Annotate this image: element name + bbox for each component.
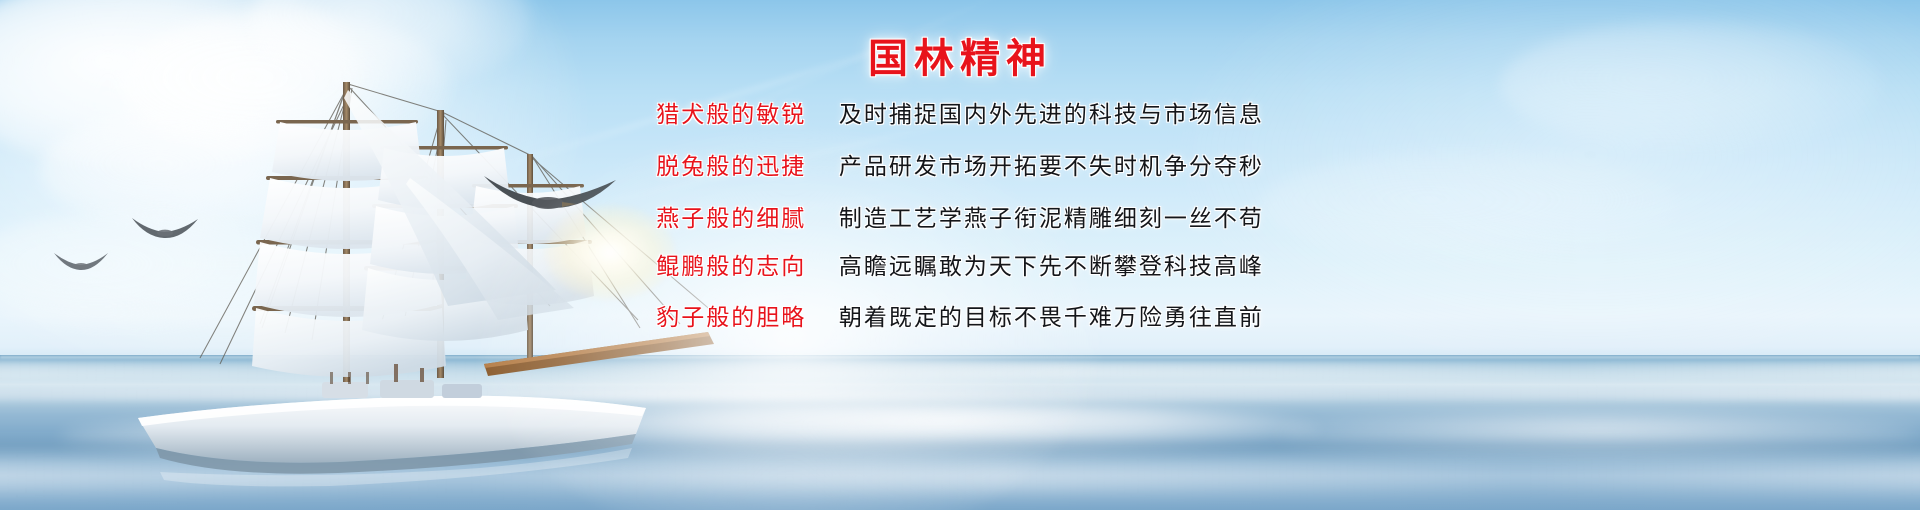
ocean-waves (0, 355, 1920, 510)
page-title: 国林精神 (0, 26, 1920, 84)
slogan-row: 豹子般的胆略 朝着既定的目标不畏千难万险勇往直前 (0, 307, 1920, 330)
slogan-keyword: 燕子般的细腻 (656, 206, 806, 232)
wave-crest (1280, 413, 1920, 457)
slogan-body: 制造工艺学燕子衔泥精雕细刻一丝不苟 (839, 206, 1264, 232)
slogan-keyword: 豹子般的胆略 (656, 305, 806, 331)
slogan-keyword: 猎犬般的敏锐 (656, 102, 806, 128)
company-spirit-banner: 国林精神 猎犬般的敏锐 及时捕捉国内外先进的科技与市场信息 脱兔般的迅捷 产品研… (0, 0, 1920, 510)
slogan-keyword: 脱兔般的迅捷 (656, 154, 806, 180)
wave-band (0, 361, 1920, 379)
horizon-line (0, 356, 1920, 359)
slogan-keyword: 鲲鹏般的志向 (656, 254, 806, 280)
slogan-body: 及时捕捉国内外先进的科技与市场信息 (839, 102, 1264, 128)
slogan-body: 朝着既定的目标不畏千难万险勇往直前 (839, 305, 1264, 331)
slogan-row: 鲲鹏般的志向 高瞻远瞩敢为天下先不断攀登科技高峰 (0, 256, 1920, 279)
slogan-row: 燕子般的细腻 制造工艺学燕子衔泥精雕细刻一丝不苟 (0, 208, 1920, 231)
wave-band (0, 389, 1920, 401)
slogan-body: 高瞻远瞩敢为天下先不断攀登科技高峰 (839, 254, 1264, 280)
wave-crest (560, 403, 1320, 455)
slogan-body: 产品研发市场开拓要不失时机争分夺秒 (839, 154, 1264, 180)
slogan-row: 脱兔般的迅捷 产品研发市场开拓要不失时机争分夺秒 (0, 156, 1920, 179)
wave-crest (60, 417, 580, 457)
wave-foam (0, 459, 1920, 493)
wave-trough (0, 441, 1920, 455)
slogan-row: 猎犬般的敏锐 及时捕捉国内外先进的科技与市场信息 (0, 104, 1920, 127)
